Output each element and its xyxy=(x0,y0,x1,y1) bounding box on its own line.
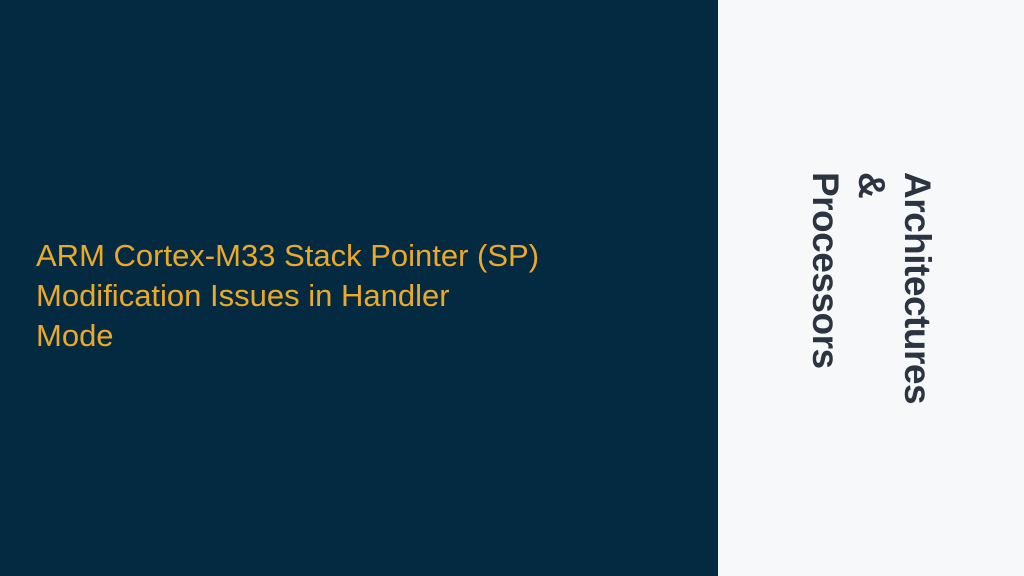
slide-canvas: ARM Cortex-M33 Stack Pointer (SP) Modifi… xyxy=(0,0,1024,576)
title-panel: ARM Cortex-M33 Stack Pointer (SP) Modifi… xyxy=(0,0,718,576)
slide-title: ARM Cortex-M33 Stack Pointer (SP) Modifi… xyxy=(36,236,696,356)
category-label: Architectures & Processors xyxy=(802,172,940,404)
category-label-container: Architectures & Processors xyxy=(718,0,1024,576)
category-side-panel: Architectures & Processors xyxy=(718,0,1024,576)
